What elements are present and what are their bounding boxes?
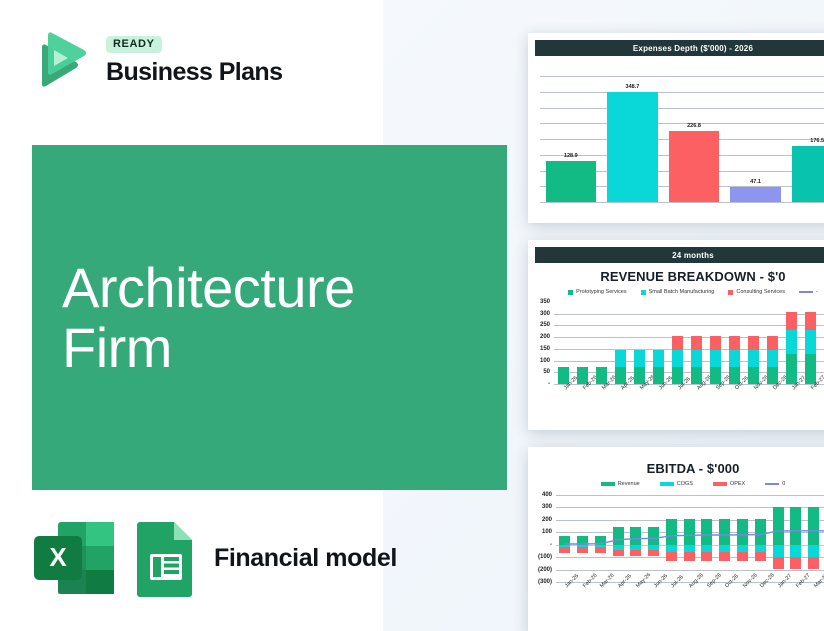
bar-segment-cogs <box>701 545 712 552</box>
bar-segment-cogs <box>755 545 766 552</box>
x-axis-tick-label: Feb-27 <box>795 573 812 590</box>
ebitda-chart-legend: RevenueCOGSOPEX0 <box>528 481 824 487</box>
bar <box>792 146 824 202</box>
legend-label: Small Batch Manufacturing <box>649 289 715 295</box>
gridline <box>554 372 824 373</box>
stacked-bar <box>767 336 779 384</box>
legend-item: Revenue <box>601 481 640 487</box>
bar-segment-revenue <box>684 519 695 544</box>
legend-item: - <box>799 289 818 295</box>
y-axis-tick-label: 50 <box>530 369 550 375</box>
gridline <box>556 570 824 571</box>
legend-item: COGS <box>660 481 693 487</box>
bar-segment-opex <box>613 550 624 556</box>
bar-segment <box>710 336 722 350</box>
legend-label: - <box>816 289 818 295</box>
bar-segment-cogs <box>808 545 819 557</box>
microsoft-excel-icon: X <box>30 518 118 598</box>
bar-segment <box>653 350 665 367</box>
revenue-chart-legend: Prototyping ServicesSmall Batch Manufact… <box>528 289 824 295</box>
stacked-bar <box>710 336 722 384</box>
stacked-bar <box>653 350 665 384</box>
gridline <box>554 325 824 326</box>
bar-segment <box>805 312 817 329</box>
bar-segment-cogs <box>719 545 730 552</box>
y-axis-tick-label: 150 <box>530 346 550 352</box>
bar-segment-revenue <box>630 527 641 545</box>
bar-segment-revenue <box>737 519 748 544</box>
bar <box>669 131 720 202</box>
gridline <box>554 361 824 362</box>
gridline <box>556 507 824 508</box>
y-axis-tick-label: - <box>530 542 552 548</box>
svg-text:X: X <box>49 542 67 572</box>
footer-format-row: X Financial model <box>30 518 397 598</box>
bar-segment-opex <box>648 550 659 556</box>
bar-segment-revenue <box>559 536 570 545</box>
revenue-chart-header: 24 months <box>535 247 824 263</box>
y-axis-tick-label: (100) <box>530 554 552 560</box>
ready-badge: READY <box>106 36 162 53</box>
bar-segment-cogs <box>737 545 748 552</box>
page-title: Architecture Firm <box>62 258 482 379</box>
bar-segment-opex <box>595 547 606 553</box>
y-axis-tick-label: 250 <box>530 322 550 328</box>
x-axis-tick-label: Feb-26 <box>582 573 599 590</box>
bar-segment <box>805 354 817 384</box>
poster-canvas: READY Business Plans Architecture Firm X <box>0 0 824 631</box>
play-logo-icon <box>30 28 92 90</box>
bar-segment <box>748 336 760 350</box>
expenses-plot-area: 128.9348.7226.847.1176.5 <box>536 62 824 212</box>
y-axis-tick-label: 300 <box>530 504 552 510</box>
legend-swatch <box>601 482 615 486</box>
page-title-line-1: Architecture <box>62 258 482 318</box>
bar-segment-opex <box>755 552 766 561</box>
bar-segment-revenue <box>719 519 730 544</box>
gridline <box>540 202 824 203</box>
bar-value-label: 348.7 <box>626 84 640 90</box>
bar-segment-revenue <box>790 507 801 545</box>
stacked-bar <box>786 312 798 384</box>
bar-segment-revenue <box>755 519 766 544</box>
bar-segment <box>786 354 798 384</box>
bar-segment-opex <box>737 552 748 561</box>
legend-item: OPEX <box>713 481 745 487</box>
revenue-chart-title: REVENUE BREAKDOWN - $'0 <box>528 269 824 284</box>
gridline <box>554 349 824 350</box>
brand-text-group: READY Business Plans <box>106 34 282 85</box>
x-axis-tick-label: Mar-27 <box>813 573 824 590</box>
legend-label: OPEX <box>730 481 745 487</box>
bar-segment-revenue <box>701 519 712 544</box>
bar-value-label: 47.1 <box>750 179 761 185</box>
bar-value-label: 128.9 <box>564 153 578 159</box>
bar-segment <box>786 312 798 329</box>
x-axis-tick-label: Nov-26 <box>742 572 759 589</box>
bar-segment-opex <box>773 557 784 569</box>
legend-swatch <box>641 290 646 295</box>
bar-segment-cogs <box>790 545 801 557</box>
ebitda-plot-area: 400300200100-(100)(200)(300)Jan-26Feb-26… <box>528 491 824 616</box>
bar-segment <box>672 336 684 350</box>
expenses-chart-title: Expenses Depth ($'000) - 2026 <box>535 40 824 56</box>
legend-swatch <box>713 482 727 486</box>
bar-value-label: 226.8 <box>687 123 701 129</box>
bar-segment <box>767 336 779 350</box>
stacked-bar <box>634 350 646 384</box>
page-title-line-2: Firm <box>62 318 482 378</box>
ebitda-chart-title: EBITDA - $'000 <box>528 461 824 476</box>
bar-segment <box>615 350 627 367</box>
legend-item: Small Batch Manufacturing <box>641 289 715 295</box>
bar-segment-cogs <box>773 545 784 557</box>
bar-segment-revenue <box>648 527 659 545</box>
brand-name: Business Plans <box>106 60 282 85</box>
stacked-bar <box>729 336 741 384</box>
gridline <box>540 123 824 124</box>
bar-segment-cogs <box>684 545 695 552</box>
x-axis-tick-label: Aug-26 <box>688 572 705 589</box>
y-axis-tick-label: 100 <box>530 529 552 535</box>
revenue-plot-area: 35030025020015010050-Jan-26Feb-26Mar-26A… <box>528 298 824 418</box>
legend-label: Consulting Services <box>736 289 785 295</box>
chart-card-revenue: 24 months REVENUE BREAKDOWN - $'0 Protot… <box>528 240 824 430</box>
google-sheets-icon <box>134 518 198 598</box>
legend-item: Prototyping Services <box>568 289 626 295</box>
bar-segment-opex <box>719 552 730 561</box>
legend-label: Revenue <box>618 481 640 487</box>
legend-label: COGS <box>677 481 693 487</box>
y-axis-tick-label: 100 <box>530 358 550 364</box>
y-axis-tick-label: (300) <box>530 579 552 585</box>
stacked-bar <box>691 336 703 384</box>
bar-segment <box>691 350 703 367</box>
legend-label: 0 <box>782 481 785 487</box>
bar-segment-opex <box>577 547 588 553</box>
bar-segment <box>729 336 741 350</box>
legend-swatch <box>728 290 733 295</box>
y-axis-tick-label: - <box>530 381 550 387</box>
bar-segment-opex <box>630 550 641 556</box>
y-axis-tick-label: (200) <box>530 567 552 573</box>
legend-item: Consulting Services <box>728 289 785 295</box>
bar-segment-revenue <box>808 507 819 545</box>
bar-segment <box>748 350 760 367</box>
y-axis-tick-label: 350 <box>530 299 550 305</box>
x-axis-tick-label: Dec-26 <box>759 572 776 589</box>
bar-segment-opex <box>808 557 819 569</box>
bar-value-label: 176.5 <box>810 138 824 144</box>
legend-swatch <box>799 291 813 293</box>
x-axis-tick-label: Sep-26 <box>706 572 723 589</box>
financial-model-label: Financial model <box>214 544 397 573</box>
axis-line <box>554 384 824 385</box>
bar-segment-revenue <box>773 507 784 545</box>
bar-segment-revenue <box>613 527 624 545</box>
legend-swatch <box>568 290 573 295</box>
bar-segment <box>691 336 703 350</box>
bar <box>546 161 597 202</box>
gridline <box>554 337 824 338</box>
bar <box>730 187 781 202</box>
bar-segment <box>634 350 646 367</box>
legend-swatch <box>765 483 779 485</box>
bar-segment-revenue <box>666 519 677 544</box>
bar-segment-cogs <box>666 545 677 552</box>
legend-label: Prototyping Services <box>576 289 626 295</box>
bar-segment-opex <box>559 547 570 553</box>
bar <box>607 92 658 202</box>
bar-segment <box>710 350 722 367</box>
legend-item: 0 <box>765 481 785 487</box>
bar-segment <box>729 350 741 367</box>
bar-segment <box>672 350 684 367</box>
gridline <box>556 495 824 496</box>
brand-lockup: READY Business Plans <box>30 28 282 90</box>
gridline <box>540 76 824 77</box>
stacked-bar <box>615 350 627 384</box>
bar-segment <box>786 330 798 354</box>
stacked-bar <box>748 336 760 384</box>
bar-segment-opex <box>790 557 801 569</box>
bar-segment <box>767 350 779 367</box>
chart-card-expenses: Expenses Depth ($'000) - 2026 128.9348.7… <box>528 33 824 223</box>
bar-segment-revenue <box>595 536 606 545</box>
bar-segment-opex <box>701 552 712 561</box>
gridline <box>554 314 824 315</box>
bar-segment-opex <box>666 552 677 561</box>
bar-segment <box>805 330 817 354</box>
bar-segment-opex <box>684 552 695 561</box>
x-axis-tick-label: May-26 <box>635 572 652 589</box>
stacked-bar <box>805 312 817 384</box>
y-axis-tick-label: 200 <box>530 334 550 340</box>
y-axis-tick-label: 300 <box>530 311 550 317</box>
y-axis-tick-label: 400 <box>530 492 552 498</box>
bar-segment-revenue <box>577 536 588 545</box>
gridline <box>540 92 824 93</box>
x-axis-tick-label: Mar-26 <box>599 573 616 590</box>
gridline <box>540 108 824 109</box>
legend-swatch <box>660 482 674 486</box>
y-axis-tick-label: 200 <box>530 517 552 523</box>
chart-card-ebitda: EBITDA - $'000 RevenueCOGSOPEX0 40030020… <box>528 447 824 631</box>
stacked-bar <box>672 336 684 384</box>
